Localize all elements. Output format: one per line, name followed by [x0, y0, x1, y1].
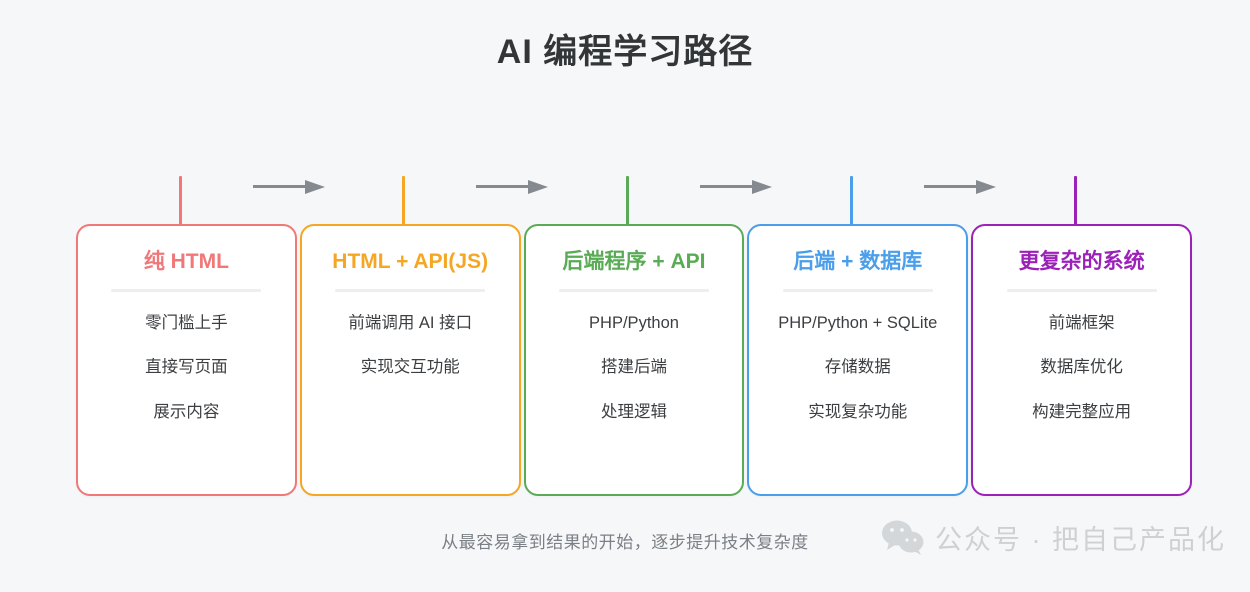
stage-card-divider: [559, 289, 709, 292]
stage-card-item: PHP/Python: [536, 312, 733, 334]
stage-card-item: 数据库优化: [983, 356, 1180, 378]
stage-card-item: 前端框架: [983, 312, 1180, 334]
stage-card-title: 后端程序 + API: [536, 250, 733, 273]
stage-card-title: 纯 HTML: [88, 250, 285, 273]
flow-connectors: [76, 176, 1192, 226]
stage-card-divider: [335, 289, 485, 292]
stage-card-divider: [1007, 289, 1157, 292]
arrow-head: [528, 180, 548, 194]
stage-card-item: 前端调用 AI 接口: [312, 312, 509, 334]
stage-card-item: 处理逻辑: [536, 401, 733, 423]
watermark: 公众号 · 把自己产品化: [881, 518, 1226, 557]
stage-card-pure-html[interactable]: 纯 HTML零门槛上手直接写页面展示内容: [76, 224, 297, 496]
arrow-shaft: [700, 185, 756, 188]
stage-card-item: 实现交互功能: [312, 356, 509, 378]
arrow-right-icon: [924, 180, 1000, 194]
arrow-head: [752, 180, 772, 194]
stage-card-complex-system[interactable]: 更复杂的系统前端框架数据库优化构建完整应用: [971, 224, 1192, 496]
arrow-shaft: [476, 185, 532, 188]
stage-card-title: 后端 + 数据库: [759, 250, 956, 273]
stage-card-title: 更复杂的系统: [983, 250, 1180, 273]
stage-card-title: HTML + API(JS): [312, 250, 509, 273]
stage-card-item: 零门槛上手: [88, 312, 285, 334]
arrow-right-icon: [476, 180, 552, 194]
stage-stem-html-api-js: [402, 176, 405, 226]
stage-cards-row: 纯 HTML零门槛上手直接写页面展示内容HTML + API(JS)前端调用 A…: [76, 224, 1192, 496]
arrow-shaft: [253, 185, 309, 188]
stage-card-backend-api[interactable]: 后端程序 + APIPHP/Python搭建后端处理逻辑: [524, 224, 745, 496]
arrow-shaft: [924, 185, 980, 188]
stage-card-item: 搭建后端: [536, 356, 733, 378]
stage-card-item: 实现复杂功能: [759, 401, 956, 423]
stage-card-item: PHP/Python + SQLite: [759, 312, 956, 334]
stage-stem-pure-html: [179, 176, 182, 226]
wechat-icon: [881, 520, 925, 556]
stage-card-divider: [783, 289, 933, 292]
arrow-right-icon: [253, 180, 329, 194]
infographic-page: AI 编程学习路径 纯 HTML零门槛上手直接写页面展示内容HTML + API…: [0, 0, 1250, 592]
arrow-head: [305, 180, 325, 194]
arrow-head: [976, 180, 996, 194]
stage-card-item: 直接写页面: [88, 356, 285, 378]
stage-card-item: 存储数据: [759, 356, 956, 378]
watermark-text: 公众号 · 把自己产品化: [935, 518, 1226, 557]
stage-stem-backend-database: [850, 176, 853, 226]
stage-card-item: 构建完整应用: [983, 401, 1180, 423]
page-title: AI 编程学习路径: [0, 24, 1250, 73]
arrow-right-icon: [700, 180, 776, 194]
stage-card-divider: [111, 289, 261, 292]
stage-card-item: 展示内容: [88, 401, 285, 423]
stage-stem-backend-api: [626, 176, 629, 226]
stage-card-backend-database[interactable]: 后端 + 数据库PHP/Python + SQLite存储数据实现复杂功能: [747, 224, 968, 496]
stage-card-html-api-js[interactable]: HTML + API(JS)前端调用 AI 接口实现交互功能: [300, 224, 521, 496]
stage-stem-complex-system: [1074, 176, 1077, 226]
